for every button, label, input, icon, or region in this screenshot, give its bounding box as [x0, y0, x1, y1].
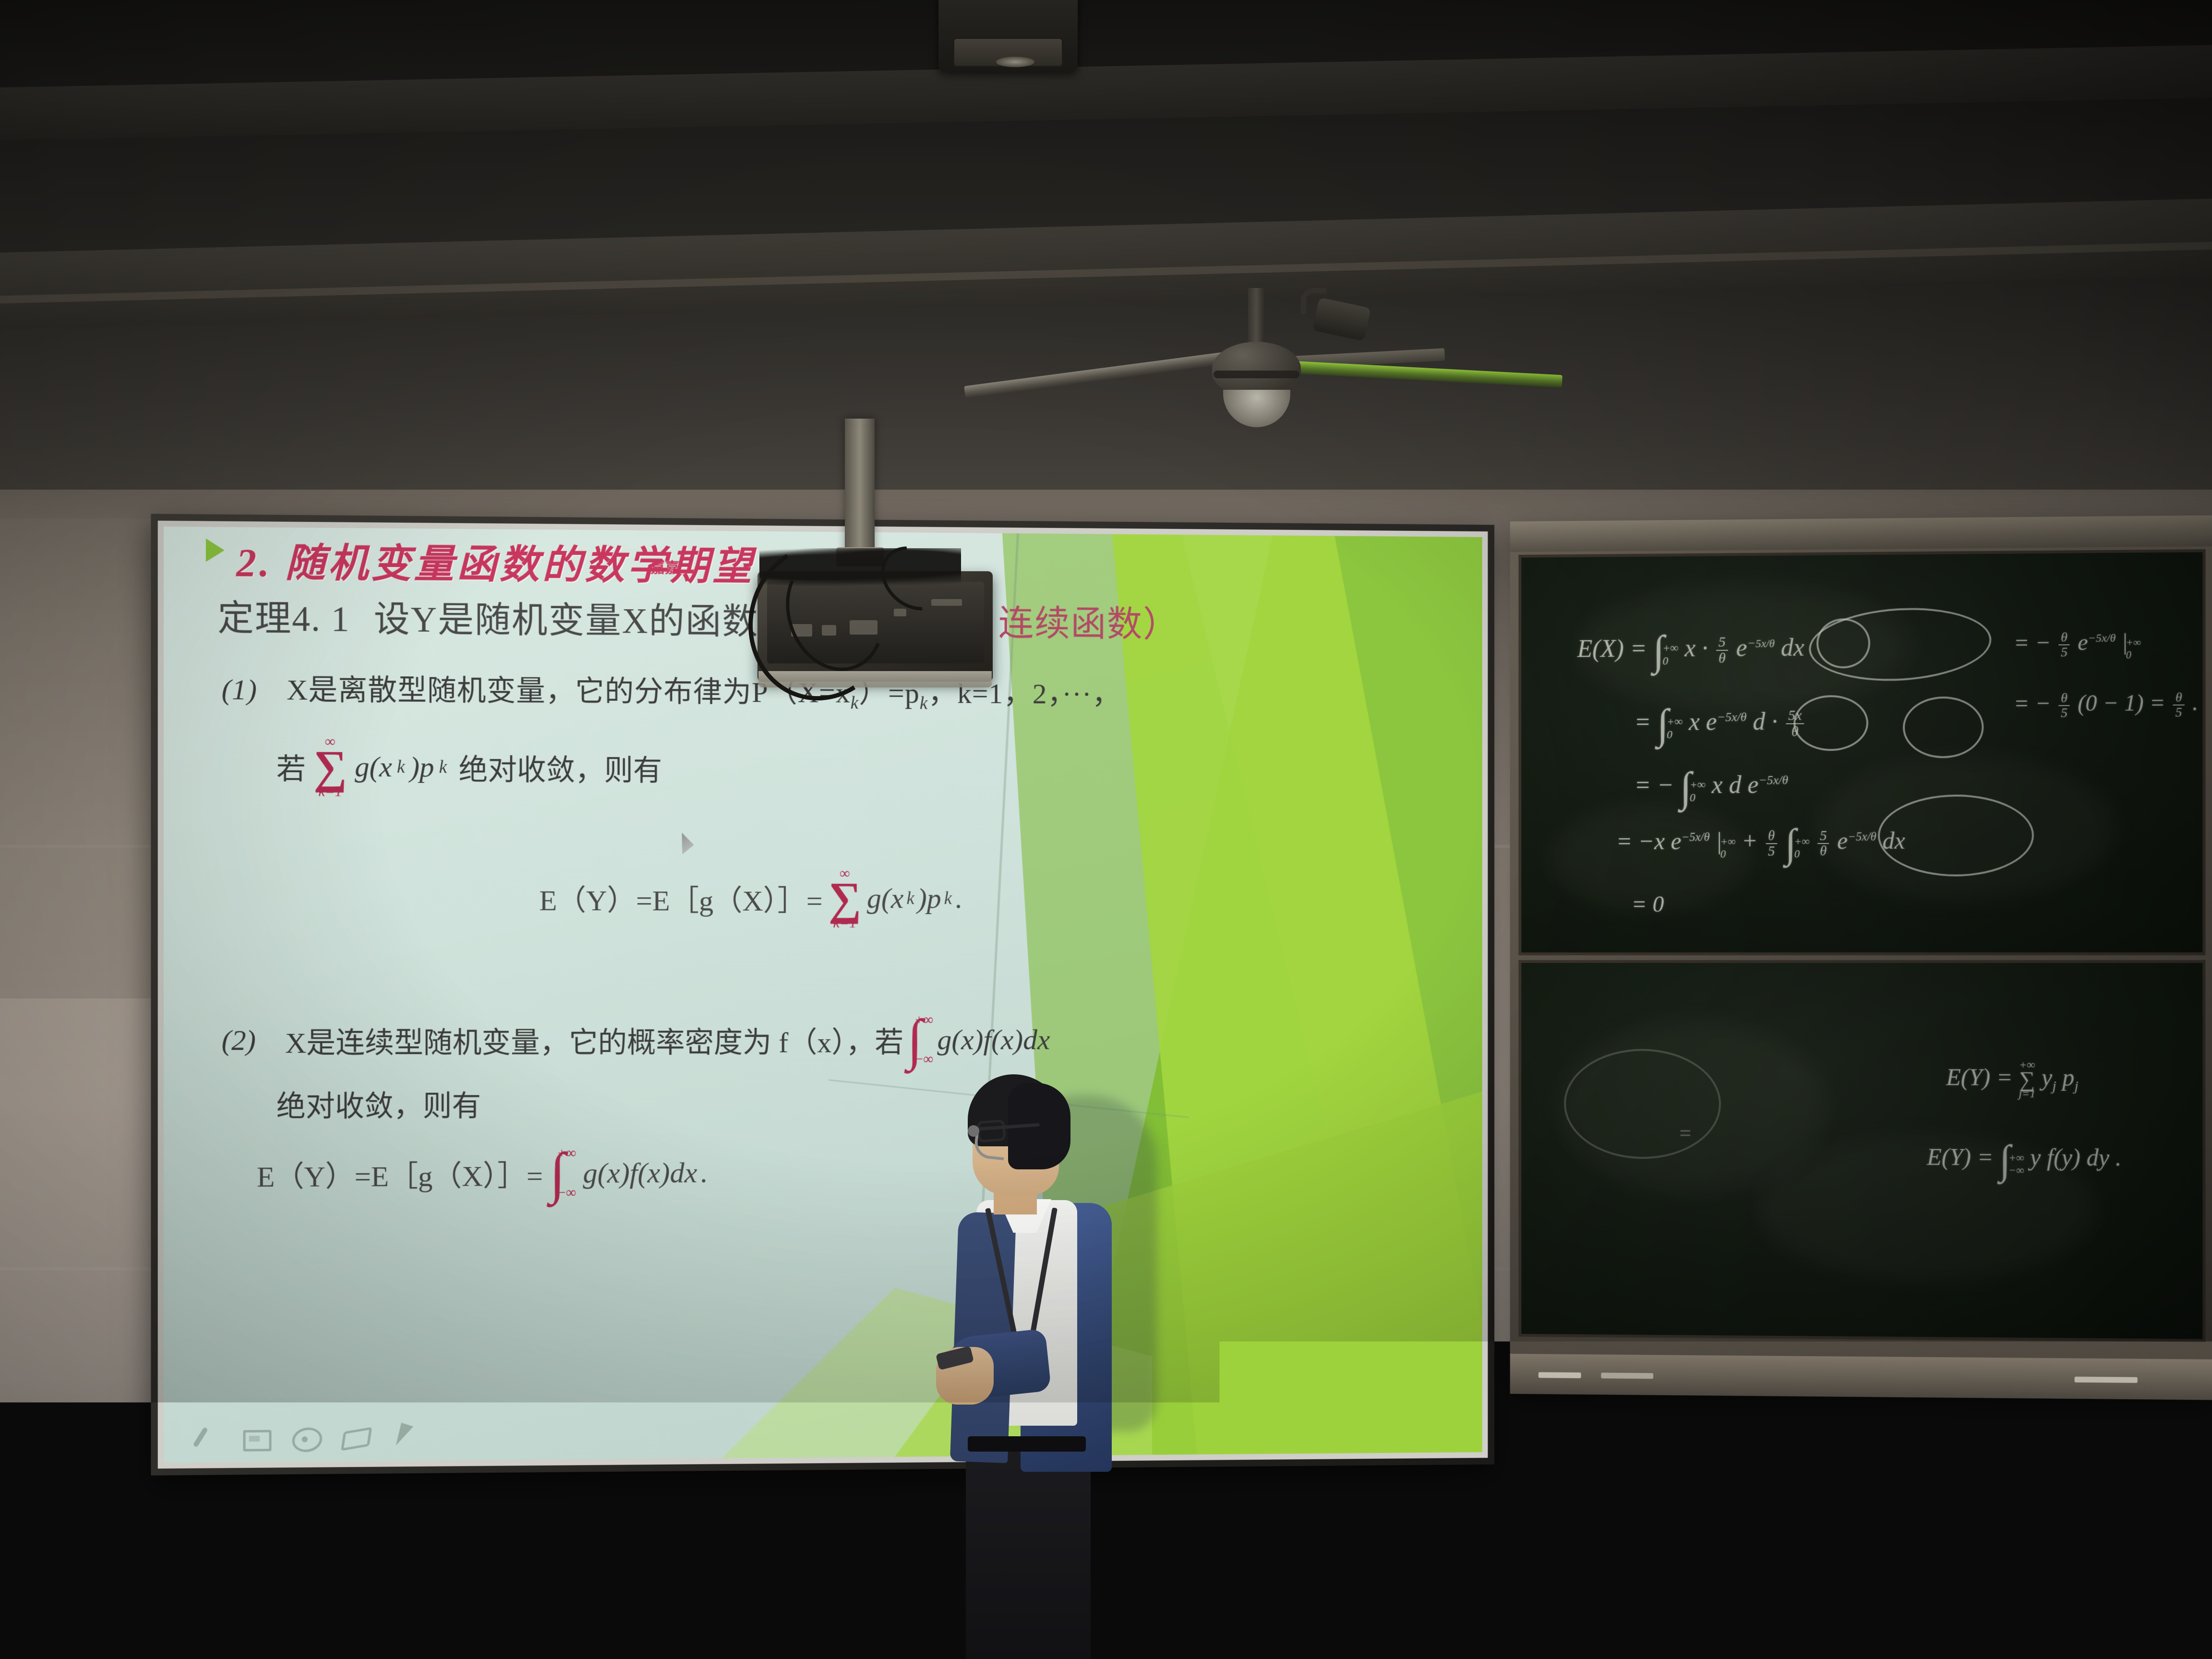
chalk-tray	[1510, 1354, 2212, 1400]
chalk-right-line-2: = − θ5 (0 − 1) = θ5 .	[2014, 689, 2198, 720]
equation-1: E（Y）=E［g（X）］= ∞ ∑ k=1 g(xk)pk.	[539, 867, 962, 930]
chalk-right-line-1: = − θ5 e−5x/θ |+∞0	[2014, 629, 2141, 660]
equation-1-lhs: E（Y）=E［g（X）］=	[539, 877, 822, 919]
sum-lower-limit: k=1	[318, 786, 342, 798]
projector-mount-pole	[845, 419, 875, 558]
fan-ring	[1214, 371, 1299, 378]
integral-body-condition: g(x)f(x)dx	[937, 1023, 1050, 1056]
foreground-shadow	[0, 1587, 2212, 1659]
sum-body-p: )p	[410, 751, 434, 784]
chalk-line-1: E(X) = ∫+∞0 x · 5θ e−5x/θ dx	[1577, 625, 1804, 676]
equation-1-body-mid: )p	[917, 882, 941, 915]
equation-2-lhs: E（Y）=E［g（X）］=	[257, 1152, 543, 1195]
equation-1-sum-lower: k=1	[833, 917, 857, 929]
chalk-line-2: = ∫+∞0 x e−5x/θ d · 5xθ	[1634, 699, 1806, 749]
sum-body-g: g(x	[355, 750, 392, 784]
sum-body-sub: k	[397, 757, 405, 778]
chalk-circle-4	[1903, 697, 1984, 758]
blackboard-top-rail	[1510, 516, 2212, 552]
condition-suffix-1: 绝对收敛，则有	[459, 746, 662, 789]
condition-prefix-1: 若	[276, 746, 306, 788]
item-2-text: X是连续型随机变量，它的概率密度为 f（x），若	[285, 1019, 903, 1061]
blackboard: E(X) = ∫+∞0 x · 5θ e−5x/θ dx = ∫+∞0 x e−…	[1510, 516, 2212, 1400]
theorem-label: 定理4. 1	[217, 599, 350, 639]
item-1-index: (1)	[222, 673, 257, 706]
theorem-body: 设Y是随机变量X的函数	[374, 600, 759, 642]
equation-1-body-sub: k	[906, 889, 914, 909]
equation-2: E（Y）=E［g（X）］= ∫ +∞ −∞ g(x)f(x)dx .	[257, 1145, 707, 1202]
equation-1-body: g(x	[867, 882, 903, 915]
equation-2-body: g(x)f(x)dx	[583, 1156, 697, 1190]
equation-2-upper: +∞	[558, 1145, 577, 1161]
sum-body-sub2: k	[439, 757, 447, 778]
equation-1-body-sub2: k	[944, 889, 952, 909]
chalk-bottom-fragment: =	[1678, 1121, 1692, 1145]
ceiling-light-glow	[996, 57, 1034, 67]
headset-microphone-icon	[968, 1125, 979, 1137]
summation-symbol: ∞ ∑ k=1	[313, 736, 347, 798]
condition-line-1: 若 ∞ ∑ k=1 g(xk)pk 绝对收敛，则有	[276, 736, 662, 799]
equation-2-lower: −∞	[558, 1185, 577, 1201]
chalk-circle-5	[1878, 794, 2034, 877]
classroom-scene: 2. 随机变量函数的数学期望 嘉嘉 定理4. 1 设Y是随机变量X的函数 连续函…	[0, 0, 2212, 1659]
chalk-bottom-line-2: E(Y) = ∫+∞−∞ y f(y) dy .	[1927, 1136, 2121, 1184]
equation-2-end: .	[700, 1156, 707, 1189]
equation-1-sum-symbol: ∞ ∑ k=1	[829, 868, 861, 929]
theorem-line: 定理4. 1 设Y是随机变量X的函数 连续函数）	[217, 589, 1179, 647]
chalk-bottom-line-1: E(Y) = +∞∑j=1 yj pj	[1946, 1059, 2079, 1100]
audience-silhouettes	[0, 1429, 2212, 1659]
wall-panel-left	[0, 518, 163, 998]
item-1-sub: k	[851, 693, 859, 713]
equation-2-integral-symbol: ∫ +∞ −∞	[550, 1145, 576, 1201]
chalk-line-4: = −x e−5x/θ |+∞0 + θ5 ∫+∞0 5θ e−5x/θ dx	[1616, 820, 1905, 867]
integral-lower-limit: −∞	[915, 1051, 933, 1068]
equation-1-end: .	[955, 882, 962, 915]
pen-annotation-icon	[677, 832, 696, 856]
integral-upper-limit: +∞	[915, 1012, 933, 1028]
chalk-line-3: = − ∫+∞0 x d e−5x/θ	[1634, 763, 1788, 812]
chalk-circle-3	[1793, 695, 1868, 751]
item-1-sub2: k	[920, 694, 928, 713]
chalk-circle-6	[1564, 1049, 1721, 1159]
condition-suffix-2: 绝对收敛，则有	[276, 1082, 481, 1125]
camera-body	[1312, 297, 1371, 341]
item-2-index: (2)	[222, 1023, 256, 1057]
list-item-2: (2) X是连续型随机变量，它的概率密度为 f（x），若 ∫ +∞ −∞ g(x…	[222, 1012, 1050, 1069]
blackboard-panel-bottom: E(Y) = +∞∑j=1 yj pj E(Y) = ∫+∞−∞ y f(y) …	[1518, 960, 2205, 1342]
slide-heading-superscript: 嘉嘉	[650, 555, 679, 577]
ceiling-camera	[1296, 288, 1373, 341]
bullet-triangle-icon	[206, 539, 225, 562]
theorem-tail: 连续函数）	[998, 604, 1179, 644]
chalk-line-5: = 0	[1632, 891, 1664, 918]
integral-symbol-condition: ∫ +∞ −∞	[907, 1012, 933, 1068]
fan-motor	[1212, 342, 1301, 396]
blackboard-panel-top: E(X) = ∫+∞0 x · 5θ e−5x/θ dx = ∫+∞0 x e−…	[1518, 549, 2205, 955]
